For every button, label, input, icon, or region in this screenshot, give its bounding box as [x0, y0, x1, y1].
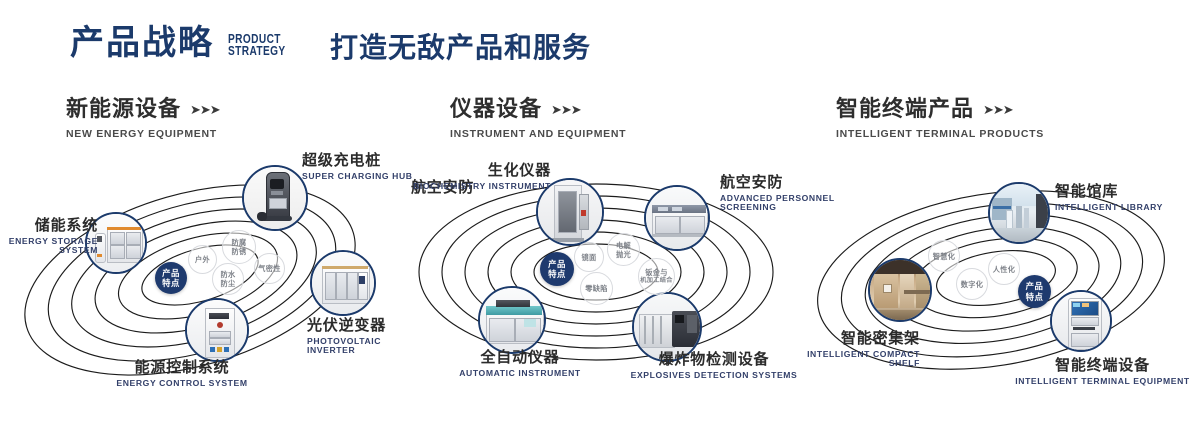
chevron-right-icon: ➤➤➤ [983, 103, 1013, 116]
feature-bubble-electropolishing: 电解 抛光 [607, 233, 640, 266]
label-automatic-instrument: 全自动仪器 AUTOMATIC INSTRUMENT [425, 350, 615, 378]
node-photovoltaic-inverter[interactable] [310, 250, 376, 316]
section-title-cn: 智能终端产品 [836, 98, 974, 120]
feature-bubble-digital: 数字化 [956, 268, 988, 300]
feature-bubble-humanized: 人性化 [988, 253, 1020, 285]
feature-bubble-anticorrosion: 防腐 防锈 [222, 230, 256, 264]
section-title-intelligent-terminal: 智能终端产品 ➤➤➤ INTELLIGENT TERMINAL PRODUCTS [836, 98, 1044, 140]
core-bubble-line2: 特点 [162, 278, 180, 289]
self-service-kiosk-icon [1052, 292, 1110, 350]
core-bubble-line1: 产品 [162, 268, 180, 279]
label-cn: 智能密集架 [790, 331, 920, 348]
label-cn: 智能终端设备 [1005, 358, 1200, 375]
page-title-cn: 产品战略 [70, 26, 214, 60]
chevron-right-icon: ➤➤➤ [551, 103, 581, 116]
core-bubble-line1: 产品 [548, 259, 566, 270]
feature-bubble-sheetmetal-machining: 钣金与 机加工结合 [638, 258, 675, 295]
page-title-en: PRODUCT STRATEGY [228, 33, 286, 60]
feature-bubble-line2: 机加工结合 [640, 277, 672, 285]
label-energy-storage-system: 储能系统 ENERGY STORAGE SYSTEM [0, 218, 98, 256]
feature-bubble-outdoor: 户外 [188, 245, 217, 274]
label-cn: 爆炸物检测设备 [618, 352, 810, 369]
core-bubble-line2: 特点 [548, 269, 566, 280]
control-cabinet-icon [187, 300, 247, 360]
page-subtitle: 打造无敌产品和服务 [330, 34, 591, 62]
automatic-instrument-icon [480, 288, 544, 352]
core-bubble-product-features: 产品 特点 [155, 262, 187, 294]
feature-bubble-line2: 抛光 [616, 250, 631, 259]
screening-machine-icon [646, 187, 708, 249]
feature-bubble-line1: 钣金与 [645, 268, 667, 277]
section-title-en: INTELLIGENT TERMINAL PRODUCTS [836, 128, 1044, 140]
label-cn: 全自动仪器 [425, 350, 615, 367]
feature-bubble-waterproof: 防水 防尘 [212, 263, 244, 295]
section-title-cn: 新能源设备 [66, 98, 181, 120]
feature-bubble-line2: 防尘 [221, 279, 236, 288]
label-en: ENERGY CONTROL SYSTEM [82, 379, 282, 389]
label-cn: 智能馆库 [1055, 184, 1195, 201]
feature-bubble-airtight: 气密性 [254, 253, 285, 284]
feature-bubble-line1: 户外 [195, 255, 210, 264]
page-header: 产品战略 PRODUCT STRATEGY [70, 26, 302, 60]
feature-bubble-line1: 智慧化 [933, 252, 955, 261]
section-title-new-energy: 新能源设备 ➤➤➤ NEW ENERGY EQUIPMENT [66, 98, 220, 140]
node-energy-control-system[interactable] [185, 298, 249, 362]
label-en: INTELLIGENT TERMINAL EQUIPMENT [1005, 377, 1200, 387]
core-bubble-line1: 产品 [1026, 281, 1044, 292]
core-bubble-product-features: 产品 特点 [540, 252, 574, 286]
label-en: INTELLIGENT COMPACT SHELF [790, 350, 920, 369]
label-intelligent-terminal-equipment: 智能终端设备 INTELLIGENT TERMINAL EQUIPMENT [1005, 358, 1200, 386]
feature-bubble-line1: 防水 [221, 270, 236, 279]
core-bubble-line2: 特点 [1026, 292, 1044, 303]
chevron-right-icon: ➤➤➤ [190, 103, 220, 116]
feature-bubble-mirror: 镜面 [574, 242, 604, 272]
node-automatic-instrument[interactable] [478, 286, 546, 354]
compact-shelf-icon [870, 260, 930, 320]
label-cn: 生化仪器 [398, 163, 551, 180]
feature-bubble-line1: 零缺陷 [585, 284, 607, 293]
section-title-en: NEW ENERGY EQUIPMENT [66, 128, 220, 140]
pv-inverter-cabinet-icon [312, 252, 374, 314]
feature-bubble-smart: 智慧化 [928, 240, 960, 272]
node-intelligent-compact-shelf[interactable] [868, 258, 932, 322]
feature-bubble-line1: 数字化 [961, 280, 983, 289]
label-en: AUTOMATIC INSTRUMENT [425, 369, 615, 379]
core-bubble-product-features: 产品 特点 [1018, 275, 1051, 308]
section-title-en: INSTRUMENT AND EQUIPMENT [450, 128, 626, 140]
library-interior-icon [990, 184, 1048, 242]
label-en: EXPLOSIVES DETECTION SYSTEMS [618, 371, 810, 381]
feature-bubble-line1: 防腐 [232, 238, 247, 247]
node-advanced-personnel-screening[interactable] [644, 185, 710, 251]
node-intelligent-library[interactable] [988, 182, 1050, 244]
label-explosives-detection-systems: 爆炸物检测设备 EXPLOSIVES DETECTION SYSTEMS [618, 352, 810, 380]
label-cn: 储能系统 [0, 218, 98, 235]
feature-bubble-line2: 防锈 [232, 247, 247, 256]
section-title-instrument: 仪器设备 ➤➤➤ INSTRUMENT AND EQUIPMENT [450, 98, 626, 140]
label-energy-control-system: 能源控制系统 ENERGY CONTROL SYSTEM [82, 360, 282, 388]
feature-bubble-line1: 电解 [616, 241, 631, 250]
feature-bubble-line1: 人性化 [993, 265, 1015, 274]
feature-bubble-line1: 镜面 [582, 253, 597, 262]
feature-bubble-line1: 气密性 [258, 264, 280, 273]
node-intelligent-terminal-equipment[interactable] [1050, 290, 1112, 352]
page-title-en-line2: STRATEGY [228, 45, 286, 57]
label-cn: 能源控制系统 [82, 360, 282, 377]
label-intelligent-compact-shelf: 智能密集架 INTELLIGENT COMPACT SHELF [790, 331, 920, 369]
label-en: BIOCHEMISTRY INSTRUMENT [398, 182, 551, 192]
charging-pile-icon [244, 167, 306, 229]
label-intelligent-library: 智能馆库 INTELLIGENT LIBRARY [1055, 184, 1195, 212]
section-title-cn: 仪器设备 [450, 98, 542, 120]
product-strategy-infographic: 产品战略 PRODUCT STRATEGY 打造无敌产品和服务 新能源设备 ➤➤… [0, 0, 1200, 422]
node-super-charging-hub[interactable] [242, 165, 308, 231]
feature-bubble-zero-defect: 零缺陷 [580, 272, 613, 305]
label-biochemistry-instrument: 生化仪器 BIOCHEMISTRY INSTRUMENT [398, 163, 551, 191]
label-en: INTELLIGENT LIBRARY [1055, 203, 1195, 213]
label-en: ENERGY STORAGE SYSTEM [0, 237, 98, 256]
